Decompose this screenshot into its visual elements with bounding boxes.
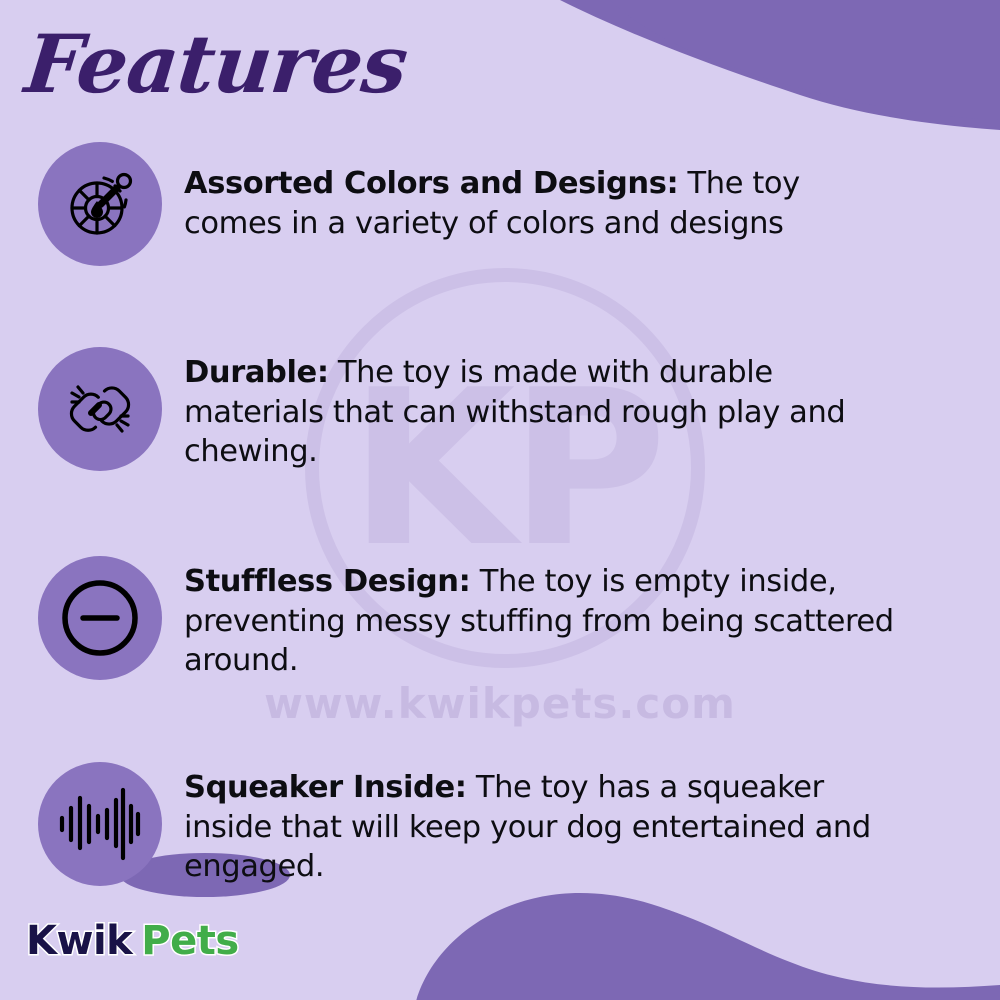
feature-item: Durable: The toy is made with durable ma…	[38, 347, 894, 472]
features-poster: KP www.kwikpets.com Features	[0, 0, 1000, 1000]
feature-text: Assorted Colors and Designs: The toy com…	[184, 142, 894, 243]
logo-kwik: Kwik	[26, 918, 132, 964]
feature-icon-badge	[38, 347, 162, 471]
logo-pets: Pets	[141, 918, 238, 964]
feature-text: Squeaker Inside: The toy has a squeaker …	[184, 762, 894, 887]
color-wheel-dropper-icon	[60, 164, 140, 244]
feature-heading: Squeaker Inside:	[184, 770, 467, 805]
brand-logo: KwikPets	[26, 918, 239, 964]
feature-heading: Durable:	[184, 355, 329, 390]
chain-link-icon	[60, 369, 140, 449]
feature-icon-badge	[38, 762, 162, 886]
feature-text: Durable: The toy is made with durable ma…	[184, 347, 894, 472]
feature-text: Stuffless Design: The toy is empty insid…	[184, 556, 894, 681]
feature-item: Squeaker Inside: The toy has a squeaker …	[38, 762, 894, 887]
feature-item: Stuffless Design: The toy is empty insid…	[38, 556, 894, 681]
feature-heading: Stuffless Design:	[184, 564, 470, 599]
feature-heading: Assorted Colors and Designs:	[184, 166, 678, 201]
sound-wave-icon	[57, 786, 143, 862]
minus-circle-icon	[57, 575, 143, 661]
feature-item: Assorted Colors and Designs: The toy com…	[38, 142, 894, 266]
feature-icon-badge	[38, 556, 162, 680]
features-list: Assorted Colors and Designs: The toy com…	[0, 0, 1000, 1000]
feature-icon-badge	[38, 142, 162, 266]
